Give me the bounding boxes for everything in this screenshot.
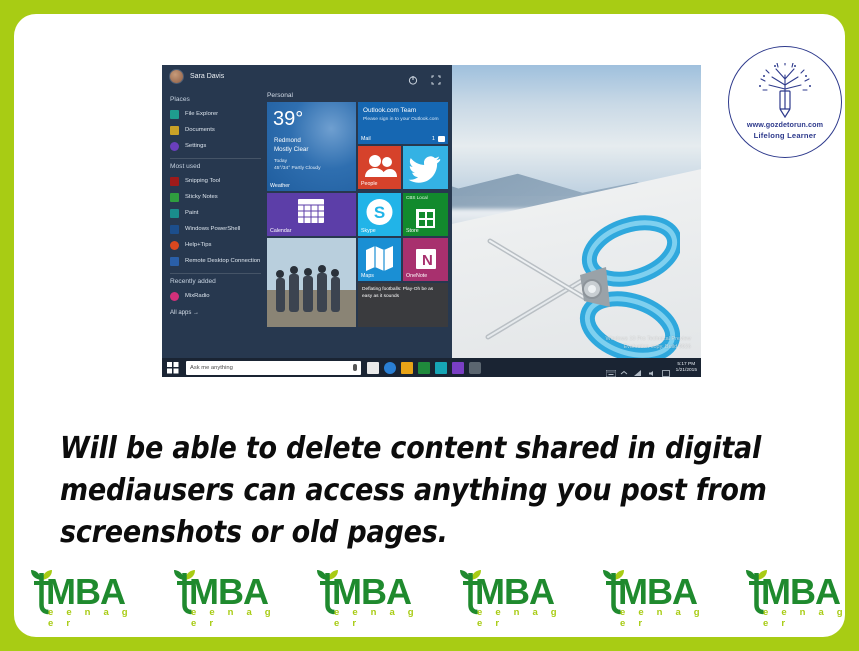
user-name[interactable]: Sara Davis — [190, 73, 224, 80]
start-menu: Sara Davis Places — [162, 65, 452, 358]
weather-city: Redmond — [274, 136, 308, 145]
mail-unread-count: 1 — [432, 136, 435, 142]
task-view-icon[interactable] — [367, 362, 379, 374]
sidebar-item-settings[interactable]: Settings — [170, 138, 261, 154]
sidebar-item-label: Settings — [185, 143, 206, 149]
action-center-icon[interactable] — [662, 364, 670, 371]
keyboard-icon[interactable] — [606, 364, 614, 371]
sidebar-item-label: Documents — [185, 127, 215, 133]
weather-forecast-value: 45°/34° Partly Cloudy — [274, 165, 321, 172]
start-menu-left-column: Places File Explorer Documents Settings — [162, 88, 261, 358]
tile-label: Skype — [361, 228, 376, 234]
tile-label: Mail — [361, 136, 371, 142]
expand-icon[interactable] — [431, 72, 441, 82]
sidebar-item-label: Windows PowerShell — [185, 226, 240, 232]
tmba-logo: MBA e e n a g e r — [22, 565, 150, 621]
avatar[interactable] — [169, 69, 184, 84]
svg-text:S: S — [374, 203, 385, 222]
search-input[interactable]: Ask me anything — [186, 361, 361, 375]
sidebar-item-label: MixRadio — [185, 293, 210, 299]
clock-date: 1/21/2015 — [676, 368, 697, 374]
documents-icon — [170, 126, 179, 135]
microphone-icon[interactable] — [353, 364, 357, 371]
tile-mail[interactable]: Outlook.com Team Please sign in to your … — [358, 102, 448, 144]
tiles-group-title: Personal — [267, 92, 448, 99]
tmba-logo: MBA e e n a g e r — [451, 565, 579, 621]
tile-label: Maps — [361, 273, 374, 279]
tile-label: Weather — [270, 183, 290, 189]
pencil-sparkle-icon — [754, 63, 816, 119]
excel-icon[interactable] — [418, 362, 430, 374]
windows-screenshot: Windows 10 Pro Technical Preview Evaluat… — [162, 65, 701, 377]
tile-onenote[interactable]: N OneNote — [403, 238, 448, 281]
gear-icon — [170, 142, 179, 151]
tile-skype[interactable]: S Skype — [358, 193, 401, 236]
sidebar-item-label: Remote Desktop Connection — [185, 258, 260, 264]
photo-people-thumbnail — [267, 238, 356, 327]
mail-subline: Please sign in to your Outlook.com — [363, 117, 439, 122]
weather-condition: Mostly Clear — [274, 145, 308, 154]
onenote-icon[interactable] — [435, 362, 447, 374]
news-headline: Deflating footballs: Play-Oh be as easy … — [362, 286, 444, 300]
word-icon[interactable] — [452, 362, 464, 374]
badge-url: www.gozdetorun.com — [747, 120, 823, 129]
tmba-logo: MBA e e n a g e r — [594, 565, 722, 621]
mail-headline: Outlook.com Team — [363, 107, 416, 114]
tmba-sub: e e n a g e r — [620, 607, 722, 629]
tile-label: People — [361, 181, 378, 187]
volume-icon[interactable] — [648, 364, 656, 371]
section-title-most-used: Most used — [170, 158, 261, 170]
sidebar-item-label: Help+Tips — [185, 242, 211, 248]
clock-time: 5:17 PM — [676, 362, 697, 368]
slide-canvas: www.gozdetorun.com Lifelong Learner — [14, 14, 845, 637]
tile-maps[interactable]: Maps — [358, 238, 401, 281]
sidebar-item-label: Snipping Tool — [185, 178, 220, 184]
tile-calendar[interactable]: Calendar — [267, 193, 356, 236]
section-title-places: Places — [170, 96, 261, 103]
search-placeholder: Ask me anything — [190, 365, 233, 371]
weather-forecast: Today 45°/34° Partly Cloudy — [274, 158, 321, 172]
tile-weather[interactable]: 39° Redmond Mostly Clear Today 45°/34° P… — [267, 102, 356, 191]
tile-photos[interactable] — [267, 238, 356, 327]
sidebar-item-label: Sticky Notes — [185, 194, 218, 200]
section-title-recently-added: Recently added — [170, 273, 261, 285]
tile-news[interactable]: Deflating footballs: Play-Oh be as easy … — [358, 283, 448, 327]
sidebar-item-file-explorer[interactable]: File Explorer — [170, 106, 261, 122]
watermark-line-1: Windows 10 Pro Technical Preview — [606, 335, 692, 343]
envelope-icon — [438, 136, 445, 142]
tmba-sub: e e n a g e r — [48, 607, 150, 629]
system-tray: 5:17 PM 1/21/2015 — [606, 362, 701, 374]
sticky-notes-icon — [170, 193, 179, 202]
weather-today-label: Today — [274, 158, 321, 165]
mixradio-icon — [170, 292, 179, 301]
site-logo-badge: www.gozdetorun.com Lifelong Learner — [728, 46, 842, 158]
footer-logo-strip: MBA e e n a g e r MBA e e n a g e r — [14, 559, 845, 627]
tile-store[interactable]: CBS Local Store — [403, 193, 448, 236]
sidebar-item-documents[interactable]: Documents — [170, 122, 261, 138]
sidebar-item-help-tips[interactable]: Help+Tips — [170, 237, 261, 253]
tmba-sub: e e n a g e r — [191, 607, 293, 629]
tile-label: Store — [406, 228, 419, 234]
snipping-tool-icon — [170, 177, 179, 186]
start-menu-tiles-pane: Personal 39° Redmond Mostly Clear Today — [261, 88, 452, 358]
tile-twitter[interactable] — [403, 146, 448, 189]
file-explorer-icon[interactable] — [401, 362, 413, 374]
sidebar-item-mixradio[interactable]: MixRadio — [170, 288, 261, 304]
sidebar-item-label: File Explorer — [185, 111, 218, 117]
sidebar-item-sticky-notes[interactable]: Sticky Notes — [170, 189, 261, 205]
taskbar: Ask me anything — [162, 358, 701, 377]
tmba-sub: e e n a g e r — [477, 607, 579, 629]
tile-label: OneNote — [406, 273, 427, 279]
tmba-logo: MBA e e n a g e r — [737, 565, 845, 621]
powershell-icon — [170, 225, 179, 234]
taskbar-app-list — [367, 362, 481, 374]
help-tips-icon — [170, 241, 179, 250]
weather-temperature: 39° — [273, 108, 303, 131]
sidebar-item-snipping-tool[interactable]: Snipping Tool — [170, 173, 261, 189]
badge-tagline: Lifelong Learner — [754, 131, 817, 140]
tmba-logo: MBA e e n a g e r — [165, 565, 293, 621]
sidebar-item-paint[interactable]: Paint — [170, 205, 261, 221]
slide-frame: www.gozdetorun.com Lifelong Learner — [0, 0, 859, 651]
caption-text: Will be able to delete content shared in… — [60, 428, 800, 554]
paint-icon — [170, 209, 179, 218]
watermark-line-2: Evaluation copy. Build 9926 — [606, 343, 692, 351]
twitter-bird-icon — [403, 146, 448, 189]
edge-icon[interactable] — [384, 362, 396, 374]
sidebar-item-remote-desktop-connection[interactable]: Remote Desktop Connection — [170, 253, 261, 269]
show-hidden-icons-icon[interactable] — [620, 364, 628, 371]
file-explorer-icon — [170, 110, 179, 119]
sidebar-item-label: Paint — [185, 210, 198, 216]
remote-desktop-icon — [170, 257, 179, 266]
tile-label: Calendar — [270, 228, 292, 234]
tmba-sub: e e n a g e r — [763, 607, 845, 629]
network-icon[interactable] — [634, 364, 642, 371]
tmba-sub: e e n a g e r — [334, 607, 436, 629]
os-watermark: Windows 10 Pro Technical Preview Evaluat… — [606, 335, 692, 351]
weather-location: Redmond Mostly Clear — [274, 136, 308, 154]
snipping-tool-icon[interactable] — [469, 362, 481, 374]
sidebar-item-windows-powershell[interactable]: Windows PowerShell — [170, 221, 261, 237]
power-icon[interactable] — [408, 72, 418, 82]
tile-people[interactable]: People — [358, 146, 401, 189]
taskbar-clock[interactable]: 5:17 PM 1/21/2015 — [676, 362, 697, 374]
all-apps-link[interactable]: All apps → — [170, 310, 261, 316]
svg-text:N: N — [422, 252, 433, 269]
windows-start-icon[interactable] — [162, 358, 184, 377]
start-menu-header: Sara Davis — [162, 65, 452, 88]
tmba-logo: MBA e e n a g e r — [308, 565, 436, 621]
